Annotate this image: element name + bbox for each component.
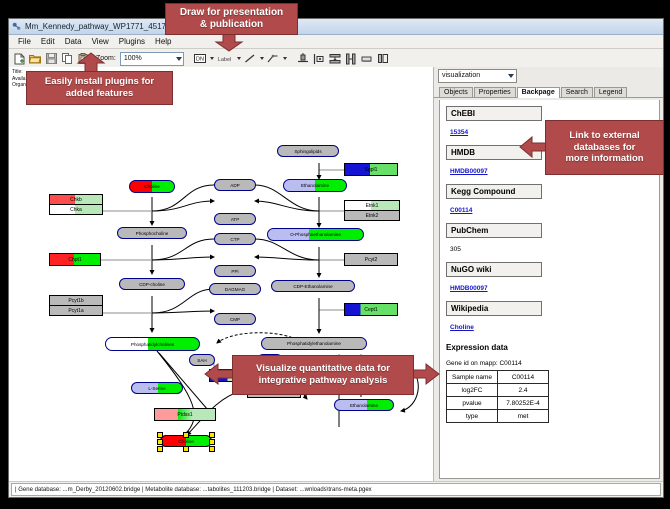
tab-legend[interactable]: Legend: [594, 87, 627, 97]
menu-item-edit[interactable]: Edit: [36, 37, 60, 46]
gene-box[interactable]: Cept1: [344, 303, 398, 316]
db-header-nugo: NuGO wiki: [446, 262, 542, 277]
visualization-value: visualization: [442, 72, 480, 79]
toolbar: Zoom: 100% DN Label: [9, 49, 663, 69]
resize-handle[interactable]: [183, 446, 189, 452]
gene-box-group[interactable]: Etnk1 Etnk2: [344, 200, 400, 221]
metabolite-node[interactable]: ADP: [214, 179, 256, 191]
callout-draw-line1: Draw for presentation: [180, 7, 283, 20]
gene-box[interactable]: Etnk1: [345, 201, 399, 211]
gene-box-group[interactable]: Chkb Chka: [49, 194, 103, 215]
metabolite-node[interactable]: Phosphocholine: [117, 227, 187, 239]
callout-viz-line2: integrative pathway analysis: [259, 375, 388, 387]
line-icon[interactable]: [243, 52, 257, 66]
tab-search[interactable]: Search: [561, 87, 593, 97]
db-header-chebi: ChEBI: [446, 106, 542, 121]
callout-draw-line2: & publication: [200, 19, 263, 32]
label-icon[interactable]: Label: [216, 52, 234, 66]
screenshot-root: Mm_Kennedy_pathway_WP1771_45176.gpml Fil…: [0, 0, 670, 509]
gene-box[interactable]: Etnk2: [345, 211, 399, 220]
side-panel-tabs: Objects Properties Backpage Search Legen…: [434, 84, 663, 98]
callout-plugins: Easily install plugins for added feature…: [26, 71, 173, 105]
callout-draw-arrow-icon: [214, 32, 244, 52]
align-left-icon[interactable]: [312, 52, 326, 66]
menu-item-plugins[interactable]: Plugins: [114, 37, 150, 46]
callout-link-line1: Link to external: [569, 130, 639, 142]
table-cell-key: Sample name: [447, 371, 498, 384]
table-row: pvalue 7.80252E-4: [447, 397, 549, 410]
chevron-down-icon: [176, 57, 182, 61]
expression-table: Sample name C00114 log2FC 2.4 pvalue 7.8…: [446, 370, 549, 423]
chevron-down-icon[interactable]: [283, 57, 287, 60]
resize-handle[interactable]: [209, 432, 215, 438]
gene-box[interactable]: Chpt1: [49, 253, 101, 266]
metabolite-node[interactable]: ATP: [214, 213, 256, 225]
resize-handle[interactable]: [209, 439, 215, 445]
zoom-value: 100%: [124, 55, 142, 62]
table-row: log2FC 2.4: [447, 384, 549, 397]
table-cell-value: 2.4: [498, 384, 549, 397]
open-folder-icon[interactable]: [28, 52, 42, 66]
callout-visualize: Visualize quantitative data for integrat…: [232, 355, 414, 395]
tab-backpage[interactable]: Backpage: [517, 87, 560, 98]
metabolite-node[interactable]: O-Phosphoethanolamine: [267, 228, 364, 241]
stack-horizontal-icon[interactable]: [344, 52, 358, 66]
callout-link-line3: more information: [565, 153, 643, 165]
callout-link-line2: databases for: [574, 142, 636, 154]
metabolite-node[interactable]: CDP-choline: [119, 278, 185, 290]
callout-visualize-left-arrow-icon: [204, 362, 234, 386]
title-bar: Mm_Kennedy_pathway_WP1771_45176.gpml: [9, 19, 663, 35]
align-top-icon[interactable]: [296, 52, 310, 66]
resize-handle[interactable]: [157, 446, 163, 452]
menu-item-file[interactable]: File: [13, 37, 36, 46]
metabolite-node[interactable]: CMP: [214, 313, 256, 325]
metabolite-node[interactable]: Ethanolamine: [283, 179, 347, 192]
menu-item-view[interactable]: View: [87, 37, 114, 46]
visualization-row: visualization: [434, 67, 663, 84]
gene-box[interactable]: Pcyt2: [344, 253, 398, 266]
db-link-chebi[interactable]: 15354: [450, 129, 468, 136]
db-link-wikipedia[interactable]: Choline: [450, 324, 474, 331]
table-cell-value: 7.80252E-4: [498, 397, 549, 410]
order-icon[interactable]: [376, 52, 390, 66]
db-link-nugo[interactable]: HMDB00097: [450, 285, 488, 292]
chevron-down-icon[interactable]: [237, 57, 241, 60]
gene-id-line: Gene id on mapp: C00114: [446, 360, 659, 367]
metabolite-node[interactable]: Choline: [129, 180, 175, 193]
callout-viz-line1: Visualize quantitative data for: [256, 363, 390, 375]
gene-box[interactable]: Chkb: [50, 195, 102, 205]
gene-box[interactable]: Ptdss1: [154, 408, 216, 421]
metabolite-node[interactable]: Sphingolipids: [277, 145, 339, 157]
anchor-line-icon[interactable]: [266, 52, 280, 66]
chevron-down-icon: [508, 74, 514, 78]
menu-bar: File Edit Data View Plugins Help: [9, 35, 663, 49]
pathway-canvas[interactable]: Title: Availa Organi: [9, 67, 434, 482]
menu-item-help[interactable]: Help: [150, 37, 176, 46]
resize-handle[interactable]: [209, 446, 215, 452]
resize-handle[interactable]: [157, 432, 163, 438]
svg-text:Label: Label: [218, 57, 231, 63]
chevron-down-icon[interactable]: [260, 57, 264, 60]
gene-box[interactable]: Pcyt1a: [50, 306, 102, 315]
table-cell-key: type: [447, 410, 498, 423]
copy-icon[interactable]: [60, 52, 74, 66]
db-header-pubchem: PubChem: [446, 223, 542, 238]
status-bar: | Gene database: ...m_Derby_20120602.bri…: [9, 481, 663, 497]
callout-link-arrow-icon: [519, 135, 547, 159]
status-text: | Gene database: ...m_Derby_20120602.bri…: [11, 483, 661, 496]
visualization-select[interactable]: visualization: [438, 69, 517, 83]
metabolite-node[interactable]: L-Serine: [131, 382, 183, 394]
callout-visualize-right-arrow-icon: [410, 362, 440, 386]
gene-box[interactable]: Chka: [50, 205, 102, 214]
table-row: Sample name C00114: [447, 371, 549, 384]
save-disk-icon[interactable]: [44, 52, 58, 66]
gene-box[interactable]: Pcyt1b: [50, 296, 102, 306]
metabolite-node[interactable]: PPi: [214, 265, 256, 277]
chevron-down-icon[interactable]: [210, 57, 214, 60]
tab-objects[interactable]: Objects: [439, 87, 473, 97]
expression-data-title: Expression data: [446, 343, 659, 352]
pathvisio-icon: [12, 22, 21, 31]
table-row: type met: [447, 410, 549, 423]
metabolite-node[interactable]: Phosphatidylethanolamine: [261, 337, 367, 350]
table-cell-key: pvalue: [447, 397, 498, 410]
callout-plugins-line1: Easily install plugins for: [45, 76, 154, 88]
menu-item-data[interactable]: Data: [60, 37, 87, 46]
callout-link-databases: Link to external databases for more info…: [545, 120, 664, 175]
new-file-icon[interactable]: [12, 52, 26, 66]
metabolite-node[interactable]: CTP: [214, 233, 256, 245]
metabolite-node[interactable]: DAGMAG: [209, 283, 261, 295]
metabolite-node[interactable]: Phosphatidylcholines: [105, 337, 200, 351]
table-cell-key: log2FC: [447, 384, 498, 397]
metabolite-node[interactable]: CDP-Ethanolamine: [271, 280, 355, 292]
group-icon[interactable]: [360, 52, 374, 66]
gene-box-group[interactable]: Pcyt1b Pcyt1a: [49, 295, 103, 316]
datanode-icon[interactable]: DN: [193, 52, 207, 66]
db-header-wikipedia: Wikipedia: [446, 301, 542, 316]
resize-handle[interactable]: [157, 439, 163, 445]
metabolite-node[interactable]: Ethanolamine: [334, 399, 394, 411]
zoom-select[interactable]: 100%: [120, 52, 184, 66]
svg-text:DN: DN: [196, 57, 204, 63]
db-link-hmdb[interactable]: HMDB00097: [450, 168, 488, 175]
resize-handle[interactable]: [183, 432, 189, 438]
db-header-kegg: Kegg Compound: [446, 184, 542, 199]
table-cell-value: C00114: [498, 371, 549, 384]
gene-box[interactable]: Sgpl1: [344, 163, 398, 176]
tab-properties[interactable]: Properties: [474, 87, 516, 97]
selected-node-group[interactable]: Choline: [155, 431, 217, 451]
callout-draw: Draw for presentation & publication: [165, 3, 298, 35]
db-value-pubchem: 305: [450, 246, 461, 253]
callout-plugins-line2: added features: [66, 88, 134, 100]
table-cell-value: met: [498, 410, 549, 423]
stack-vertical-icon[interactable]: [328, 52, 342, 66]
callout-plugins-arrow-icon: [76, 52, 106, 73]
db-link-kegg[interactable]: C00114: [450, 207, 472, 214]
